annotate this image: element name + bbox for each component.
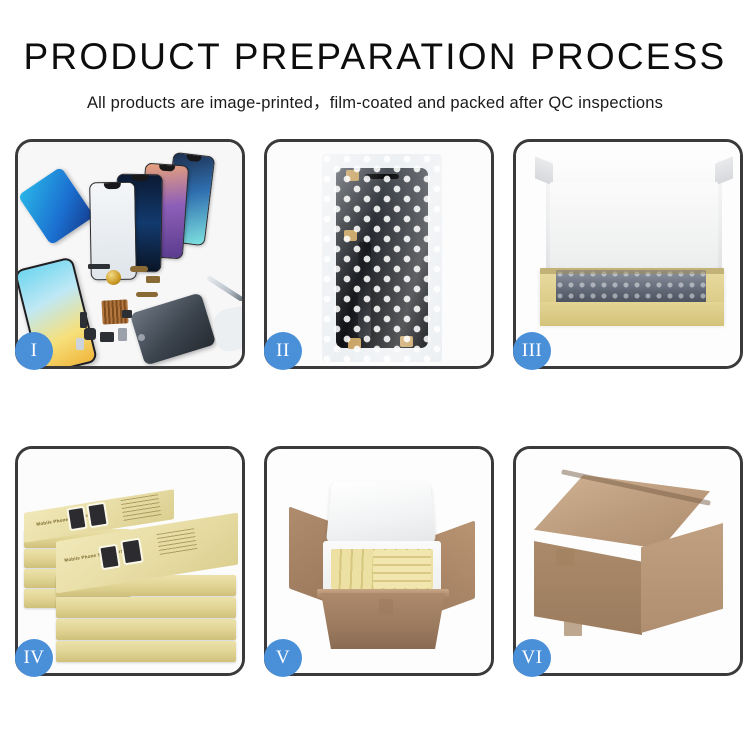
step-badge-4: IV [15,639,53,677]
technician-hand-icon [210,304,242,353]
screwdriver-icon [206,275,242,302]
ic-chip-icon [122,310,132,318]
step-3-image [516,142,740,366]
step-2-image [267,142,491,366]
bubble-wrap-bag-icon [322,154,442,362]
process-step-card-1[interactable]: I [15,139,245,369]
part-strip-icon [88,264,110,269]
page-header: PRODUCT PREPARATION PROCESS All products… [0,0,750,113]
step-badge-2: II [264,332,302,370]
process-step-card-5[interactable]: V [264,446,494,676]
box-print-lcd-1b [89,504,107,526]
carton-tape-lower-icon [564,621,582,636]
screw-icon [138,334,145,341]
blue-screen-panel-icon [18,167,94,246]
box-right-4 [56,641,236,662]
carton-tape-icon [379,599,393,615]
box-stack-icon: Mobile Phone Spare Parts Mobile Phone Sp… [22,471,242,663]
box-print-lcd-2b [122,540,141,563]
step-badge-6: VI [513,639,551,677]
step-badge-1: I [15,332,53,370]
tray-top-edge-icon [540,268,724,274]
foam-insert-icon [550,182,718,268]
process-step-card-2[interactable]: II [264,139,494,369]
carton-left-face-icon [534,541,642,635]
step-badge-5: V [264,639,302,677]
inner-boxes-stack-icon [373,550,431,588]
process-step-card-4[interactable]: Mobile Phone Spare Parts Mobile Phone Sp… [15,446,245,676]
step-1-image [18,142,242,366]
step-badge-3: III [513,332,551,370]
antenna-strip-icon [80,312,87,328]
bag-sheen-icon [322,154,442,362]
step-6-image [516,449,740,673]
wrapped-bundle-icon [556,270,706,306]
phone-back-housing-icon [130,292,217,365]
vibrator-icon [100,332,114,342]
tray-front-face-icon [540,302,724,326]
box-right-2 [56,597,236,618]
box-right-3 [56,619,236,640]
foam-lid-icon [326,482,436,544]
process-step-card-6[interactable]: VI [513,446,743,676]
page-subtitle: All products are image-printed，film-coat… [0,89,750,113]
process-step-card-3[interactable]: III [513,139,743,369]
connector-gold-icon [146,276,160,283]
box-print-lcd-1a [69,508,86,529]
flex-cable-icon [130,266,148,272]
step-5-image [267,449,491,673]
carton-tape-upper-icon [556,549,574,566]
camera-module-icon [84,328,96,340]
ribbon-cable-icon [136,292,158,297]
process-step-grid: I II III [15,139,743,676]
speaker-coil-icon [106,270,121,285]
metal-bracket-icon [118,328,127,341]
page-title: PRODUCT PREPARATION PROCESS [0,38,750,75]
sim-tray-icon [76,338,84,350]
step-4-image: Mobile Phone Spare Parts Mobile Phone Sp… [18,449,242,673]
box-print-lcd-2a [101,546,119,568]
